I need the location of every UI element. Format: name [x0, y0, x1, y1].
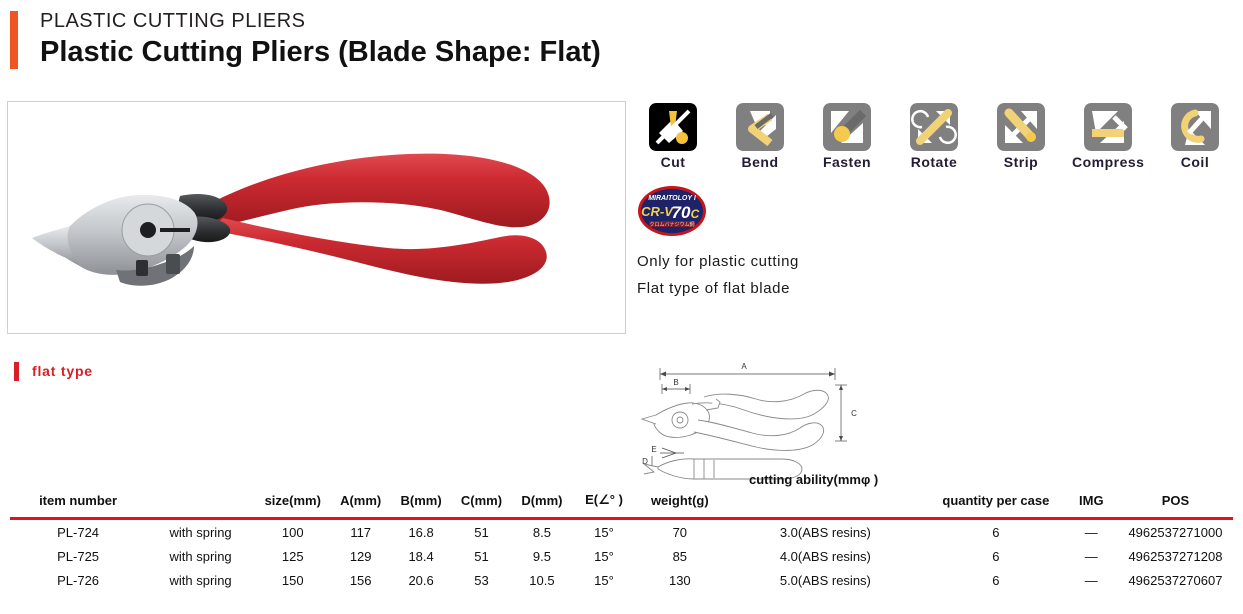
cell-cutting-ability: 5.0(ABS resins) [724, 568, 927, 592]
badge-sub-text: クロムバナジウム鋼 [649, 221, 694, 228]
cell-c: 53 [451, 568, 511, 592]
cell-img: — [1065, 519, 1118, 545]
cell-pos: 4962537271208 [1118, 544, 1233, 568]
col-b: B(mm) [391, 492, 451, 514]
cell-a: 129 [330, 544, 390, 568]
function-icon-bend[interactable]: Bend [724, 103, 796, 170]
page-eyebrow: PLASTIC CUTTING PLIERS [40, 10, 306, 33]
cell-size: 100 [255, 519, 330, 545]
dim-label-a: A [741, 362, 747, 371]
function-icon-cut[interactable]: Cut [637, 103, 709, 170]
page-title: Plastic Cutting Pliers (Blade Shape: Fla… [40, 36, 601, 69]
spec-table-head: item number size(mm) A(mm) B(mm) C(mm) D… [10, 492, 1233, 519]
table-row[interactable]: PL-726with spring15015620.65310.515°1305… [10, 568, 1233, 592]
cell-item-number: PL-725 [10, 544, 146, 568]
dimension-drawing-icon: A B C D E [632, 352, 882, 487]
function-icon-strip: Cut Bend Fasten [637, 103, 1237, 175]
cell-item-number: PL-724 [10, 519, 146, 545]
cell-weight: 130 [636, 568, 724, 592]
product-photo-illustration [8, 102, 625, 333]
product-photo[interactable] [7, 101, 626, 334]
col-cutting-ability [724, 492, 927, 514]
cell-b: 18.4 [391, 544, 451, 568]
dim-label-e: E [651, 445, 656, 454]
cell-quantity-per-case: 6 [927, 519, 1065, 545]
function-icon-label: Compress [1072, 154, 1144, 170]
function-icon-compress[interactable]: Compress [1072, 103, 1144, 170]
spec-table: item number size(mm) A(mm) B(mm) C(mm) D… [10, 492, 1233, 592]
cell-c: 51 [451, 519, 511, 545]
cell-spring: with spring [146, 519, 255, 545]
col-pos: POS [1118, 492, 1233, 514]
note-line-1: Only for plastic cutting [637, 253, 799, 270]
notch-a [136, 260, 148, 276]
cell-quantity-per-case: 6 [927, 568, 1065, 592]
cell-d: 10.5 [512, 568, 572, 592]
function-icon-coil[interactable]: Coil [1159, 103, 1231, 170]
col-c: C(mm) [451, 492, 511, 514]
compress-icon [1084, 103, 1132, 151]
col-e: E(∠° ) [572, 492, 636, 514]
pivot-hole [140, 222, 156, 238]
dim-label-c: C [851, 409, 857, 418]
cell-a: 156 [330, 568, 390, 592]
function-icon-label: Rotate [898, 154, 970, 170]
cell-img: — [1065, 544, 1118, 568]
function-icon-rotate[interactable]: Rotate [898, 103, 970, 170]
cell-spring: with spring [146, 568, 255, 592]
cut-icon [649, 103, 697, 151]
col-d: D(mm) [512, 492, 572, 514]
cell-b: 16.8 [391, 519, 451, 545]
function-icon-label: Coil [1159, 154, 1231, 170]
cell-img: — [1065, 568, 1118, 592]
spec-table-wrapper: item number size(mm) A(mm) B(mm) C(mm) D… [0, 492, 1243, 592]
cell-pos: 4962537270607 [1118, 568, 1233, 592]
cell-spring: with spring [146, 544, 255, 568]
col-size: size(mm) [255, 492, 330, 514]
cell-e: 15° [572, 568, 636, 592]
spec-table-body: PL-724with spring10011716.8518.515°703.0… [10, 519, 1233, 593]
cell-a: 117 [330, 519, 390, 545]
cell-quantity-per-case: 6 [927, 544, 1065, 568]
cell-cutting-ability: 4.0(ABS resins) [724, 544, 927, 568]
cell-item-number: PL-726 [10, 568, 146, 592]
col-weight: weight(g) [636, 492, 724, 514]
cell-c: 51 [451, 544, 511, 568]
cell-pos: 4962537271000 [1118, 519, 1233, 545]
dim-label-b: B [673, 378, 678, 387]
badge-c-text: C [691, 207, 700, 221]
badge-top-text: MIRAITOLOY I [648, 195, 697, 202]
col-img: IMG [1065, 492, 1118, 514]
function-icon-label: Bend [724, 154, 796, 170]
material-badge: MIRAITOLOY I CR-V 70 C クロムバナジウム鋼 [637, 185, 707, 237]
function-icon-strip[interactable]: Strip [985, 103, 1057, 170]
cell-d: 8.5 [512, 519, 572, 545]
col-quantity-per-case: quantity per case [927, 492, 1065, 514]
coil-icon [1171, 103, 1219, 151]
cutting-ability-header: cutting ability(mmφ ) [749, 472, 878, 487]
cell-e: 15° [572, 519, 636, 545]
accent-bar [10, 11, 18, 69]
function-icon-label: Cut [637, 154, 709, 170]
page-header: PLASTIC CUTTING PLIERS Plastic Cutting P… [0, 0, 1243, 88]
notch-b [166, 254, 180, 274]
note-line-2: Flat type of flat blade [637, 280, 790, 297]
cell-d: 9.5 [512, 544, 572, 568]
fasten-icon [823, 103, 871, 151]
cell-weight: 85 [636, 544, 724, 568]
cell-e: 15° [572, 544, 636, 568]
cell-size: 125 [255, 544, 330, 568]
bend-icon [736, 103, 784, 151]
badge-70-text: 70 [672, 203, 691, 222]
cell-b: 20.6 [391, 568, 451, 592]
spec-table-header-row: item number size(mm) A(mm) B(mm) C(mm) D… [10, 492, 1233, 514]
section-accent-bar [14, 362, 19, 381]
badge-crv-text: CR-V [641, 204, 674, 219]
cell-cutting-ability: 3.0(ABS resins) [724, 519, 927, 545]
function-icon-fasten[interactable]: Fasten [811, 103, 883, 170]
dimension-drawing: A B C D E [632, 352, 882, 487]
function-icon-label: Fasten [811, 154, 883, 170]
table-row[interactable]: PL-725with spring12512918.4519.515°854.0… [10, 544, 1233, 568]
rotate-icon [910, 103, 958, 151]
col-a: A(mm) [330, 492, 390, 514]
strip-icon [997, 103, 1045, 151]
col-spring [146, 492, 255, 514]
col-item-number: item number [10, 492, 146, 514]
table-row[interactable]: PL-724with spring10011716.8518.515°703.0… [10, 519, 1233, 545]
section-label-text: flat type [32, 363, 93, 379]
dim-label-d: D [642, 457, 648, 466]
cell-weight: 70 [636, 519, 724, 545]
cell-size: 150 [255, 568, 330, 592]
product-page: PLASTIC CUTTING PLIERS Plastic Cutting P… [0, 0, 1243, 614]
crv70c-badge-icon: MIRAITOLOY I CR-V 70 C クロムバナジウム鋼 [637, 185, 707, 237]
function-icon-label: Strip [985, 154, 1057, 170]
